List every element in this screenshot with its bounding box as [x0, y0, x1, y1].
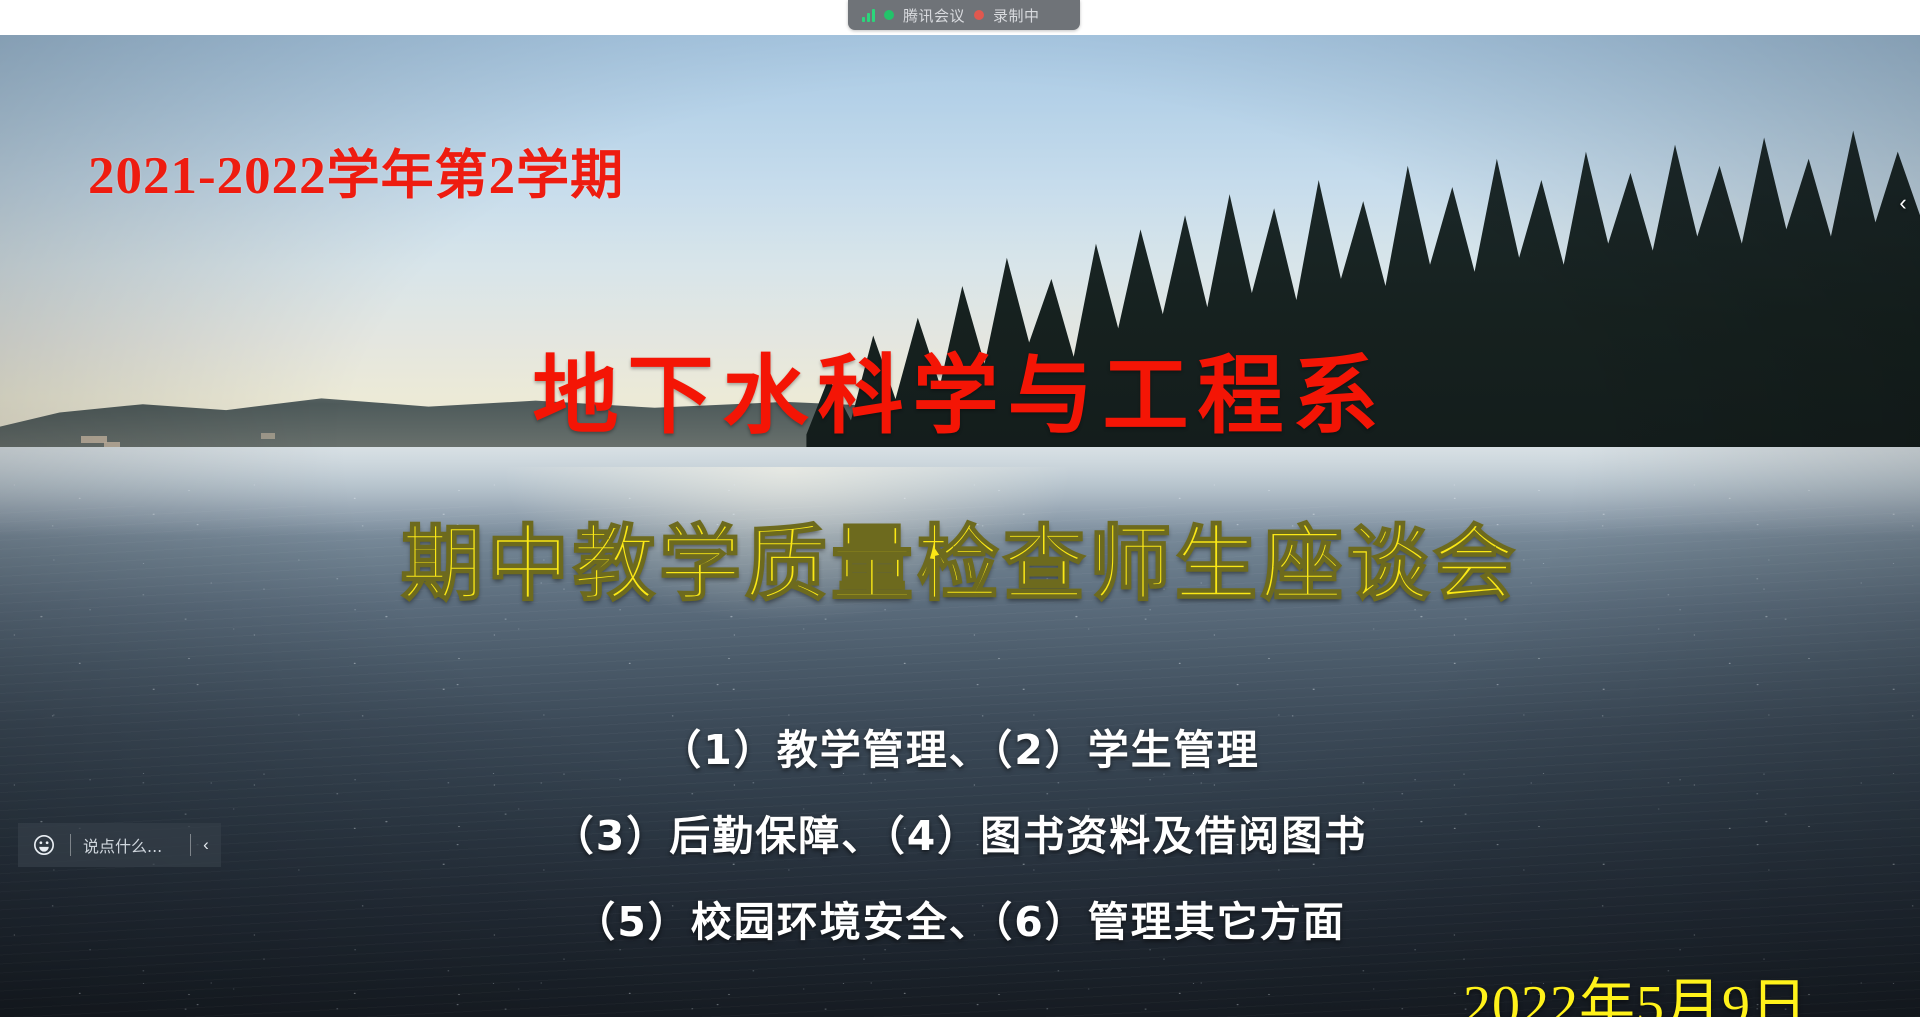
- chevron-left-icon[interactable]: ‹: [191, 823, 221, 867]
- department-title: 地下水科学与工程系: [0, 325, 1920, 450]
- side-panel-toggle-chevron-left-icon[interactable]: ‹: [1890, 183, 1916, 223]
- green-status-dot: [884, 10, 894, 20]
- slide-text-layer: 2021-2022学年第2学期 地下水科学与工程系 期中教学质量检查师生座谈会 …: [0, 35, 1920, 1017]
- chat-message-input[interactable]: 说点什么...: [71, 823, 190, 867]
- recording-indicator-bar[interactable]: 腾讯会议 录制中: [848, 0, 1080, 30]
- agenda-item: （3）后勤保障、（4）图书资料及借阅图书: [0, 793, 1920, 879]
- emoji-picker-button[interactable]: [18, 823, 70, 867]
- smiley-face-icon: [33, 834, 55, 856]
- agenda-list: （1）教学管理、（2）学生管理 （3）后勤保障、（4）图书资料及借阅图书 （5）…: [0, 707, 1920, 965]
- shared-slide: 2021-2022学年第2学期 地下水科学与工程系 期中教学质量检查师生座谈会 …: [0, 35, 1920, 1017]
- academic-term-label: 2021-2022学年第2学期: [88, 133, 624, 209]
- red-recording-dot: [974, 10, 984, 20]
- signal-bars-icon: [862, 9, 875, 22]
- meeting-title: 期中教学质量检查师生座谈会: [0, 497, 1920, 616]
- chat-composer-bar[interactable]: 说点什么... ‹: [18, 823, 221, 867]
- recording-status-label: 录制中: [993, 5, 1040, 26]
- agenda-item: （1）教学管理、（2）学生管理: [0, 707, 1920, 793]
- agenda-item: （5）校园环境安全、（6）管理其它方面: [0, 879, 1920, 965]
- slide-date-label: 2022年5月9日: [1463, 960, 1808, 1017]
- screen-share-view: 腾讯会议 录制中 2021-2022学年第2学期 地下水科学与工程系 期中教学质…: [0, 0, 1920, 1017]
- app-name-label: 腾讯会议: [903, 5, 965, 26]
